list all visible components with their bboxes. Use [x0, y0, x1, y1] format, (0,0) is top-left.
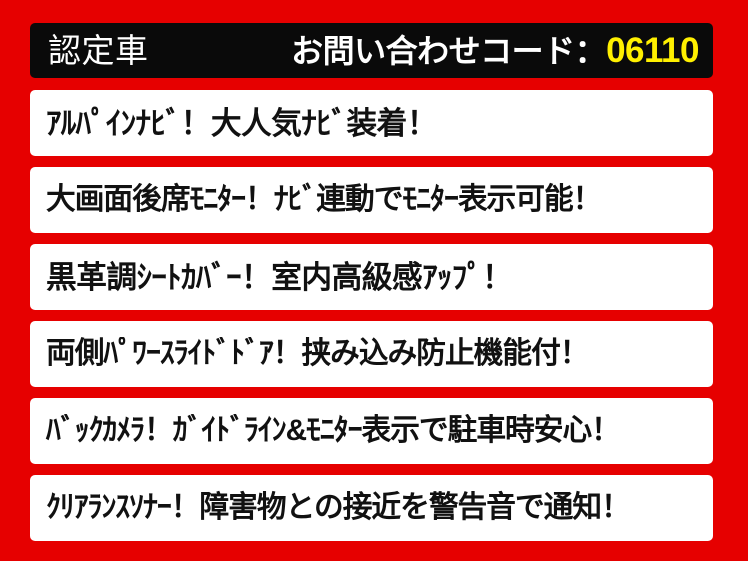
inquiry-code-label: お問い合わせコード： — [291, 35, 606, 67]
feature-row: 黒革調ｼｰﾄｶﾊﾞｰ！室内高級感ｱｯﾌﾟ！ — [30, 244, 713, 310]
inquiry-code-value: 06110 — [606, 33, 699, 68]
vehicle-feature-banner: 認定車 お問い合わせコード： 06110 ｱﾙﾊﾟｲﾝﾅﾋﾞ！大人気ﾅﾋﾞ装着！… — [0, 0, 748, 561]
header-bar: 認定車 お問い合わせコード： 06110 — [30, 23, 713, 78]
feature-text: 黒革調ｼｰﾄｶﾊﾞｰ！室内高級感ｱｯﾌﾟ！ — [46, 262, 512, 293]
feature-list: ｱﾙﾊﾟｲﾝﾅﾋﾞ！大人気ﾅﾋﾞ装着！ 大画面後席ﾓﾆﾀｰ！ﾅﾋﾞ連動でﾓﾆﾀｰ… — [30, 90, 713, 541]
feature-row: 両側ﾊﾟﾜｰｽﾗｲﾄﾞﾄﾞｱ！挟み込み防止機能付！ — [30, 321, 713, 387]
feature-row: ﾊﾞｯｸｶﾒﾗ！ｶﾞｲﾄﾞﾗｲﾝ&ﾓﾆﾀｰ表示で駐車時安心！ — [30, 398, 713, 464]
inquiry-code-group: お問い合わせコード： 06110 — [291, 33, 699, 68]
feature-row: 大画面後席ﾓﾆﾀｰ！ﾅﾋﾞ連動でﾓﾆﾀｰ表示可能！ — [30, 167, 713, 233]
feature-text: ﾊﾞｯｸｶﾒﾗ！ｶﾞｲﾄﾞﾗｲﾝ&ﾓﾆﾀｰ表示で駐車時安心！ — [46, 416, 620, 446]
feature-row: ｸﾘｱﾗﾝｽｿﾅｰ！障害物との接近を警告音で通知！ — [30, 475, 713, 541]
feature-text: ｱﾙﾊﾟｲﾝﾅﾋﾞ！大人気ﾅﾋﾞ装着！ — [46, 108, 437, 139]
feature-text: 大画面後席ﾓﾆﾀｰ！ﾅﾋﾞ連動でﾓﾆﾀｰ表示可能！ — [46, 185, 601, 215]
feature-row: ｱﾙﾊﾟｲﾝﾅﾋﾞ！大人気ﾅﾋﾞ装着！ — [30, 90, 713, 156]
feature-text: 両側ﾊﾟﾜｰｽﾗｲﾄﾞﾄﾞｱ！挟み込み防止機能付！ — [46, 339, 589, 369]
feature-text: ｸﾘｱﾗﾝｽｿﾅｰ！障害物との接近を警告音で通知！ — [46, 493, 630, 523]
certified-vehicle-badge: 認定車 — [48, 34, 149, 67]
